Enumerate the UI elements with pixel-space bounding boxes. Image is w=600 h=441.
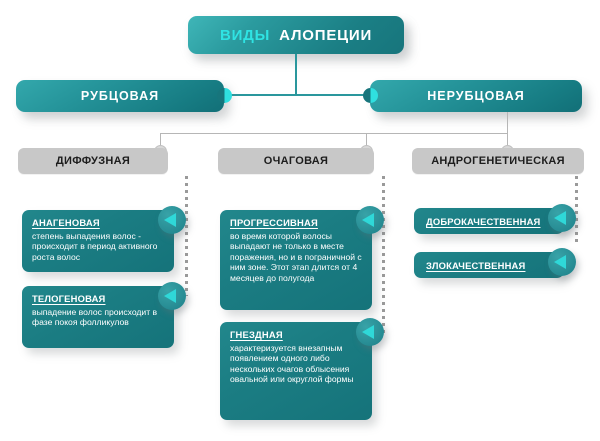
leaf-title-anagenic: АНАГЕНОВАЯ: [32, 217, 100, 228]
dotted-rail-focal: [382, 176, 385, 336]
alopecia-types-diagram: ВИДЫ АЛОПЕЦИИ РУБЦОВАЯ НЕРУБЦОВАЯ ДИФФУЗ…: [0, 0, 600, 441]
connector-grey-rail: [160, 133, 508, 134]
level2-node-noncicatricial: НЕРУБЦОВАЯ: [370, 80, 582, 112]
connector-knob-right: [363, 88, 378, 103]
leaf-description-telogenic: выпадение волос происходит в фазе покоя …: [32, 307, 164, 328]
level2-label-cicatricial: РУБЦОВАЯ: [81, 89, 159, 103]
leaf-node-nested: ГНЕЗДНАЯ характеризуется внезапным появл…: [220, 322, 372, 420]
leaf-description-anagenic: степень выпадения волос - происходит в п…: [32, 231, 164, 262]
level2-label-noncicatricial: НЕРУБЦОВАЯ: [427, 89, 525, 103]
leaf-node-telogenic: ТЕЛОГЕНОВАЯ выпадение волос происходит в…: [22, 286, 174, 348]
dotted-rail-diffuse: [185, 176, 188, 296]
leaf-node-malignant: ЗЛОКАЧЕСТВЕННАЯ: [414, 252, 564, 278]
level3-node-focal: ОЧАГОВАЯ: [218, 148, 374, 174]
connector-level2-bar: [228, 94, 368, 96]
connector-grey-drop: [507, 112, 508, 134]
marker-telogenic: [158, 282, 186, 310]
marker-progressive: [356, 206, 384, 234]
level3-node-androgenetic: АНДРОГЕНЕТИЧЕСКАЯ: [412, 148, 584, 174]
marker-malignant: [548, 248, 576, 276]
connector-knob-left: [217, 88, 232, 103]
level3-node-diffuse: ДИФФУЗНАЯ: [18, 148, 168, 174]
leaf-node-anagenic: АНАГЕНОВАЯ степень выпадения волос - про…: [22, 210, 174, 272]
root-node-title: ВИДЫ АЛОПЕЦИИ: [188, 16, 404, 54]
dotted-rail-androgenetic: [575, 176, 578, 246]
marker-benign: [548, 204, 576, 232]
leaf-title-progressive: ПРОГРЕССИВНАЯ: [230, 217, 318, 228]
leaf-title-malignant: ЗЛОКАЧЕСТВЕННАЯ: [426, 260, 525, 271]
leaf-node-benign: ДОБРОКАЧЕСТВЕННАЯ: [414, 208, 564, 234]
level2-node-cicatricial: РУБЦОВАЯ: [16, 80, 224, 112]
leaf-description-nested: характеризуется внезапным появлением одн…: [230, 343, 362, 385]
marker-anagenic: [158, 206, 186, 234]
root-title-word-2: АЛОПЕЦИИ: [279, 27, 372, 44]
leaf-title-nested: ГНЕЗДНАЯ: [230, 329, 283, 340]
leaf-title-telogenic: ТЕЛОГЕНОВАЯ: [32, 293, 106, 304]
leaf-node-progressive: ПРОГРЕССИВНАЯ во время которой волосы вы…: [220, 210, 372, 310]
leaf-description-progressive: во время которой волосы выпадают не толь…: [230, 231, 362, 283]
leaf-title-benign: ДОБРОКАЧЕСТВЕННАЯ: [426, 216, 540, 227]
level3-label-focal: ОЧАГОВАЯ: [264, 155, 329, 167]
level3-label-diffuse: ДИФФУЗНАЯ: [56, 155, 130, 167]
root-title-word-1: ВИДЫ: [220, 27, 270, 44]
connector-root-stem: [295, 54, 297, 95]
level3-label-androgenetic: АНДРОГЕНЕТИЧЕСКАЯ: [431, 155, 565, 167]
marker-nested: [356, 318, 384, 346]
